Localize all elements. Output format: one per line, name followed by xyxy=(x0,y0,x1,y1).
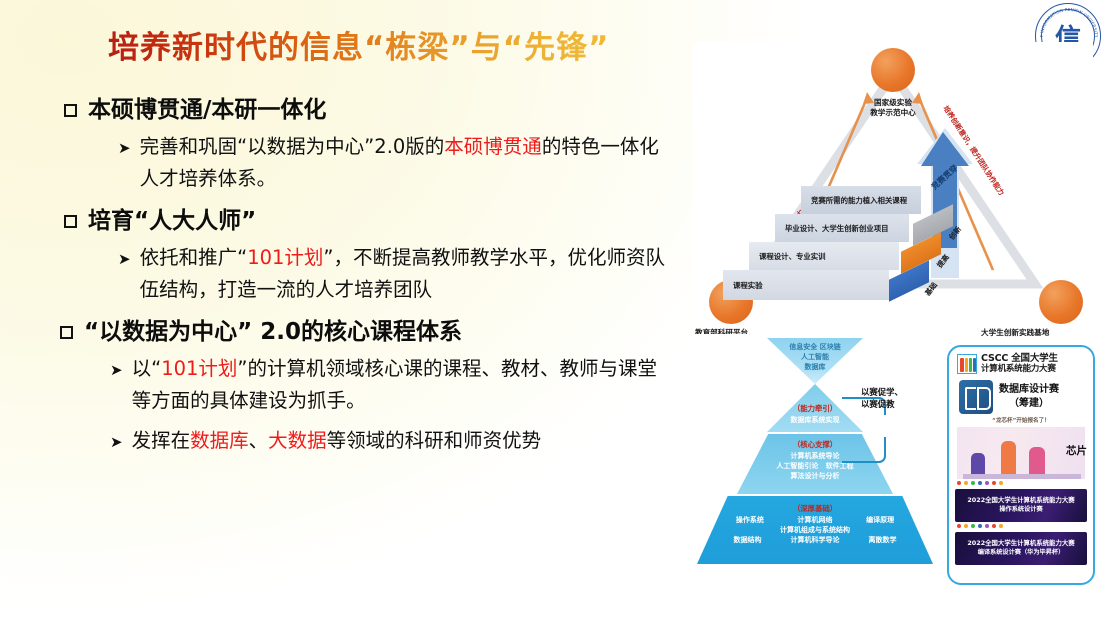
step-course-design: 课程设计、专业实训 xyxy=(749,242,899,270)
section-bullet: ➤ 依托和推广“101计划”，不断提高教师教学水平，优化师资队伍结构，打造一流的… xyxy=(0,242,690,305)
illustration-floor xyxy=(963,474,1081,479)
database-event-text: 数据库设计赛 （筹建） xyxy=(999,383,1059,411)
node-national-lab xyxy=(871,48,915,92)
section-bullet: ➤ 完善和巩固“以数据为中心”2.0版的本硕博贯通的特色一体化人才培养体系。 xyxy=(0,131,690,194)
slide-canvas: 培养新时代的信息“栋梁”与“先锋” SCHOOL OF INFORMATION … xyxy=(0,0,1117,619)
connector-label: 以赛促学、 以赛促教 xyxy=(861,386,903,410)
step-course-experiment: 课程实验 xyxy=(723,270,889,300)
svg-text:SCHOOL OF INFORMATION RENMIN U: SCHOOL OF INFORMATION RENMIN UNIVERSITY … xyxy=(1036,4,1099,38)
step-competition-ability: 竞赛所需的能力植入相关课程 xyxy=(801,186,921,214)
section-bullet: ➤ 以“101计划”的计算机领域核心课的课程、教材、教师与课堂等方面的具体建设为… xyxy=(0,353,690,416)
section-2: 培育“人大人师” ➤ 依托和推广“101计划”，不断提高教师教学水平，优化师资队… xyxy=(0,206,690,305)
section-heading-text: 本硕博贯通/本研一体化 xyxy=(88,95,326,126)
arrow-bullet-icon: ➤ xyxy=(118,136,131,160)
practice-triangle-diagram: 国家级实验 教学示范中心 教育部科研平台 大学生创新实践基地 提高学生解决复杂工… xyxy=(693,42,1093,322)
illustration-figure-1 xyxy=(971,453,985,475)
arrow-bullet-icon: ➤ xyxy=(110,430,123,454)
bullet-square-icon xyxy=(64,215,77,228)
section-heading: “以数据为中心” 2.0的核心课程体系 xyxy=(0,317,690,348)
section-heading-text: “以数据为中心” 2.0的核心课程体系 xyxy=(84,317,462,348)
banner-compiler-design[interactable]: 2022全国大学生计算机系统能力大赛 编译系统设计赛（华为毕昇杯） xyxy=(955,532,1087,565)
node-label-national-lab: 国家级实验 教学示范中心 xyxy=(843,98,943,117)
bullet-square-icon xyxy=(60,326,73,339)
step-graduation-project: 毕业设计、大学生创新创业项目 xyxy=(775,214,909,242)
carousel-dots[interactable] xyxy=(957,481,1093,485)
node-student-innovation-base xyxy=(1039,280,1083,324)
event-slogan: “龙芯杯”开始报名了！ xyxy=(949,414,1093,427)
database-event-row: 数据库设计赛 （筹建） xyxy=(949,377,1093,414)
arrow-bullet-icon: ➤ xyxy=(110,358,123,382)
bullet-text: 以“101计划”的计算机领域核心课的课程、教材、教师与课堂等方面的具体建设为抓手… xyxy=(132,353,676,416)
arrow-bullet-icon: ➤ xyxy=(118,247,131,271)
pyramid-top-labels: 信息安全 区块链 人工智能 数据库 xyxy=(767,342,863,372)
bullet-square-icon xyxy=(64,104,77,117)
carousel-dots-2[interactable] xyxy=(957,524,1093,528)
section-bullet: ➤ 发挥在数据库、大数据等领域的科研和师资优势 xyxy=(0,425,690,457)
connector-lower xyxy=(842,437,886,463)
bullet-text: 依托和推广“101计划”，不断提高教师教学水平，优化师资队伍结构，打造一流的人才… xyxy=(140,242,676,305)
database-cube-icon xyxy=(959,380,993,414)
banner-os-design[interactable]: 2022全国大学生计算机系统能力大赛 操作系统设计赛 xyxy=(955,489,1087,522)
curriculum-pyramid-diagram: 信息安全 区块链 人工智能 数据库 （能力牵引） 数据库系统实现 （核心支撑） … xyxy=(693,334,933,592)
section-1: 本硕博贯通/本研一体化 ➤ 完善和巩固“以数据为中心”2.0版的本硕博贯通的特色… xyxy=(0,95,690,194)
cscc-logo-icon xyxy=(957,354,977,374)
pyramid-layer-base-labels: （深厚基础） 操作系统 计算机网络 编译原理 计算机组成与系统结构 数据结构 计… xyxy=(697,504,933,545)
illustration-figure-2 xyxy=(1001,441,1016,475)
section-3: “以数据为中心” 2.0的核心课程体系 ➤ 以“101计划”的计算机领域核心课的… xyxy=(0,317,690,456)
section-heading-text: 培育“人大人师” xyxy=(88,206,256,237)
section-heading: 培育“人大人师” xyxy=(0,206,690,237)
node-label-student-innovation-base: 大学生创新实践基地 xyxy=(981,328,1049,338)
cscc-brand: CSCC 全国大学生 计算机系统能力大赛 xyxy=(949,347,1093,377)
illustration-figure-3 xyxy=(1029,447,1045,475)
chip-label: 芯片 xyxy=(1066,443,1087,458)
bullet-text: 发挥在数据库、大数据等领域的科研和师资优势 xyxy=(132,425,542,457)
cscc-brand-text: CSCC 全国大学生 计算机系统能力大赛 xyxy=(981,353,1058,375)
content-column: 本硕博贯通/本研一体化 ➤ 完善和巩固“以数据为中心”2.0版的本硕博贯通的特色… xyxy=(0,95,690,458)
competition-card: CSCC 全国大学生 计算机系统能力大赛 数据库设计赛 （筹建） “龙芯杯”开始… xyxy=(947,345,1095,585)
bullet-text: 完善和巩固“以数据为中心”2.0版的本硕博贯通的特色一体化人才培养体系。 xyxy=(140,131,676,194)
section-heading: 本硕博贯通/本研一体化 xyxy=(0,95,690,126)
